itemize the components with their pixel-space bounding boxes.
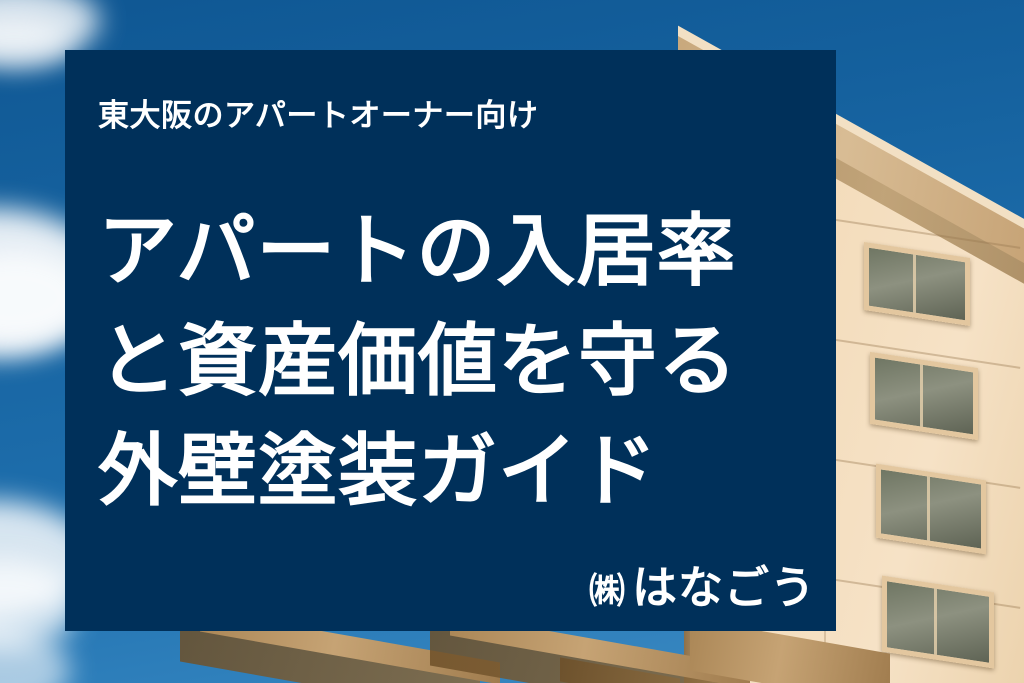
headline-line-1: アパートの入居率 [98, 196, 738, 306]
company-name: ㈱はなごう [0, 551, 836, 616]
corporation-mark: ㈱ [589, 570, 626, 611]
headline-line-2: と資産価値を守る [98, 306, 738, 416]
company-name-text: はなごう [632, 562, 816, 613]
banner-subtitle: 東大阪のアパートオーナー向け [98, 97, 538, 134]
banner-image: 東大阪のアパートオーナー向け アパートの入居率 と資産価値を守る 外壁塗装ガイド… [0, 0, 1024, 683]
headline-line-3: 外壁塗装ガイド [98, 416, 738, 526]
banner-headline: アパートの入居率 と資産価値を守る 外壁塗装ガイド [98, 196, 738, 526]
